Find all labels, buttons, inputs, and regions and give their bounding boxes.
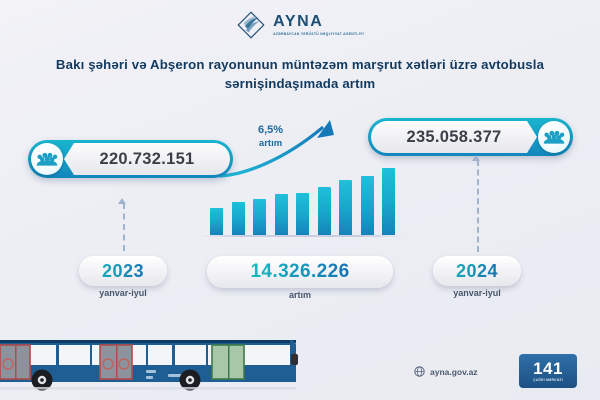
brand-logo: AYNA AZƏRBAYCAN YERÜSTÜ NƏQLİYYAT AGENTL… <box>0 10 600 40</box>
growth-absolute-label: artım <box>207 290 393 300</box>
connector-line-2024 <box>477 160 479 252</box>
website-link[interactable]: ayna.gov.az <box>414 366 478 377</box>
chart-baseline <box>200 235 405 237</box>
brand-subtitle: AZƏRBAYCAN YERÜSTÜ NƏQLİYYAT AGENTLİYİ <box>273 33 364 36</box>
bar-6 <box>318 187 331 235</box>
infographic-canvas: AYNA AZƏRBAYCAN YERÜSTÜ NƏQLİYYAT AGENTL… <box>0 0 600 400</box>
bar-7 <box>339 180 352 235</box>
bar-4 <box>275 194 288 235</box>
connector-arrow-2024 <box>472 155 480 161</box>
period-label-2024: yanvar-iyul <box>417 288 537 298</box>
growth-percent-label: 6,5% artım <box>258 124 283 150</box>
bar-9 <box>382 168 395 235</box>
year-pill-2024: 2024 <box>433 256 521 286</box>
growth-absolute-pill: 14.326.226 <box>207 256 393 288</box>
bar-3 <box>253 199 266 235</box>
year-pill-2023: 2023 <box>79 256 167 286</box>
globe-icon <box>414 366 425 377</box>
year-label-2024: 2024 <box>456 261 498 282</box>
bar-1 <box>210 208 223 235</box>
brand-name: AYNA <box>273 14 364 30</box>
period-label-2023: yanvar-iyul <box>63 288 183 298</box>
page-title: Bakı şəhəri və Abşeron rayonunun müntəzə… <box>30 55 570 93</box>
growth-absolute-value: 14.326.226 <box>250 261 349 283</box>
passengers-group-icon <box>538 121 570 153</box>
metric-value-2024: 235.058.377 <box>371 121 537 153</box>
year-label-2023: 2023 <box>102 261 144 282</box>
growth-percent-word: artım <box>258 138 283 150</box>
call-center-number: 141 <box>533 360 563 377</box>
metric-value-2023: 220.732.151 <box>64 143 230 175</box>
ayna-star-logo-icon <box>236 10 266 40</box>
call-center-badge[interactable]: 141 ÇAĞRI MƏRKƏZİ <box>519 354 577 388</box>
passengers-group-icon <box>31 143 63 175</box>
website-url: ayna.gov.az <box>430 367 478 377</box>
bar-chart <box>210 157 395 235</box>
connector-line-2023 <box>123 203 125 251</box>
metric-pill-2023: 220.732.151 <box>28 140 233 178</box>
bar-8 <box>361 176 374 235</box>
bar-5 <box>296 193 309 235</box>
connector-arrow-2023 <box>118 198 126 204</box>
growth-percent-value: 6,5% <box>258 124 283 138</box>
call-center-label: ÇAĞRI MƏRKƏZİ <box>533 379 563 382</box>
city-bus-icon <box>0 332 304 394</box>
metric-pill-2024: 235.058.377 <box>368 118 573 156</box>
bar-2 <box>232 202 245 235</box>
